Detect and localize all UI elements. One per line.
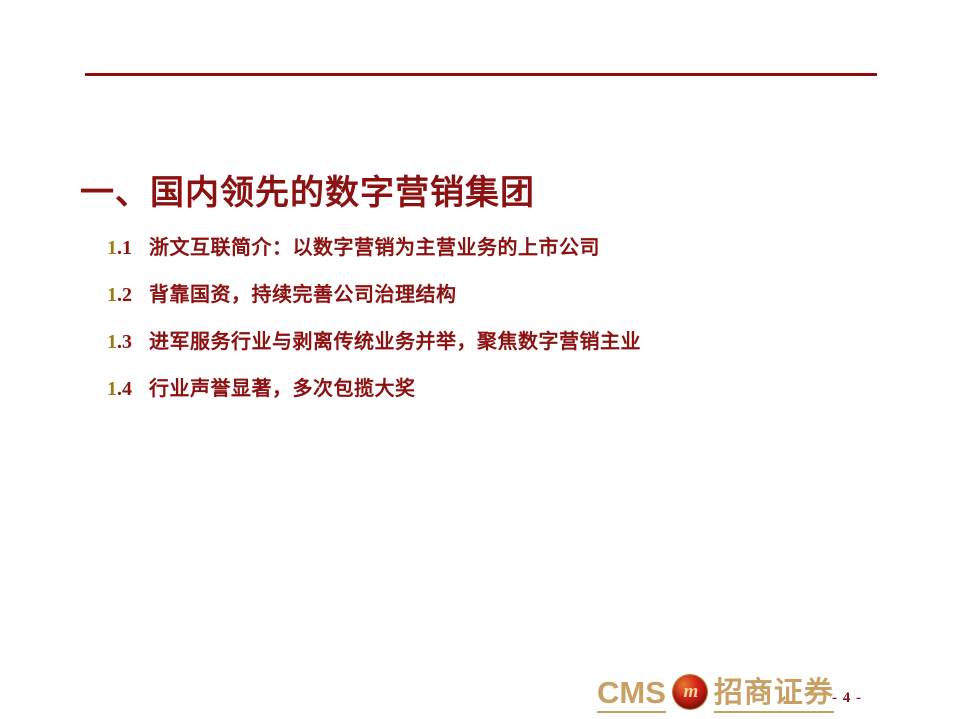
logo-latin-text: CMS bbox=[597, 677, 666, 713]
list-item-label: 进军服务行业与剥离传统业务并举，聚焦数字营销主业 bbox=[149, 325, 641, 354]
list-item-number: 1.2 bbox=[107, 284, 149, 307]
company-logo: CMS m 招商证券 bbox=[597, 675, 834, 713]
list-item-label: 行业声誉显著，多次包揽大奖 bbox=[149, 372, 416, 401]
list-item-number: 1.3 bbox=[107, 331, 149, 354]
list-item-label: 浙文互联简介：以数字营销为主营业务的上市公司 bbox=[149, 231, 600, 260]
agenda-list: 1.1 浙文互联简介：以数字营销为主营业务的上市公司 1.2 背靠国资，持续完善… bbox=[107, 231, 887, 419]
list-item-number: 1.1 bbox=[107, 237, 149, 260]
logo-chinese-text: 招商证券 bbox=[714, 679, 834, 713]
page-title: 一、国内领先的数字营销集团 bbox=[80, 176, 535, 212]
header-divider-rule bbox=[85, 73, 877, 76]
emblem-glyph: m bbox=[673, 682, 707, 701]
slide-canvas: 一、国内领先的数字营销集团 1.1 浙文互联简介：以数字营销为主营业务的上市公司… bbox=[0, 0, 959, 719]
list-item[interactable]: 1.2 背靠国资，持续完善公司治理结构 bbox=[107, 278, 887, 325]
list-item[interactable]: 1.1 浙文互联简介：以数字营销为主营业务的上市公司 bbox=[107, 231, 887, 278]
list-item[interactable]: 1.3 进军服务行业与剥离传统业务并举，聚焦数字营销主业 bbox=[107, 325, 887, 372]
list-item-label: 背靠国资，持续完善公司治理结构 bbox=[149, 278, 457, 307]
list-item-number: 1.4 bbox=[107, 378, 149, 401]
list-item[interactable]: 1.4 行业声誉显著，多次包揽大奖 bbox=[107, 372, 887, 419]
slide-footer: CMS m 招商证券 - 4 - bbox=[0, 659, 959, 719]
page-number: - 4 - bbox=[832, 690, 862, 707]
cms-emblem-icon: m bbox=[673, 675, 707, 709]
